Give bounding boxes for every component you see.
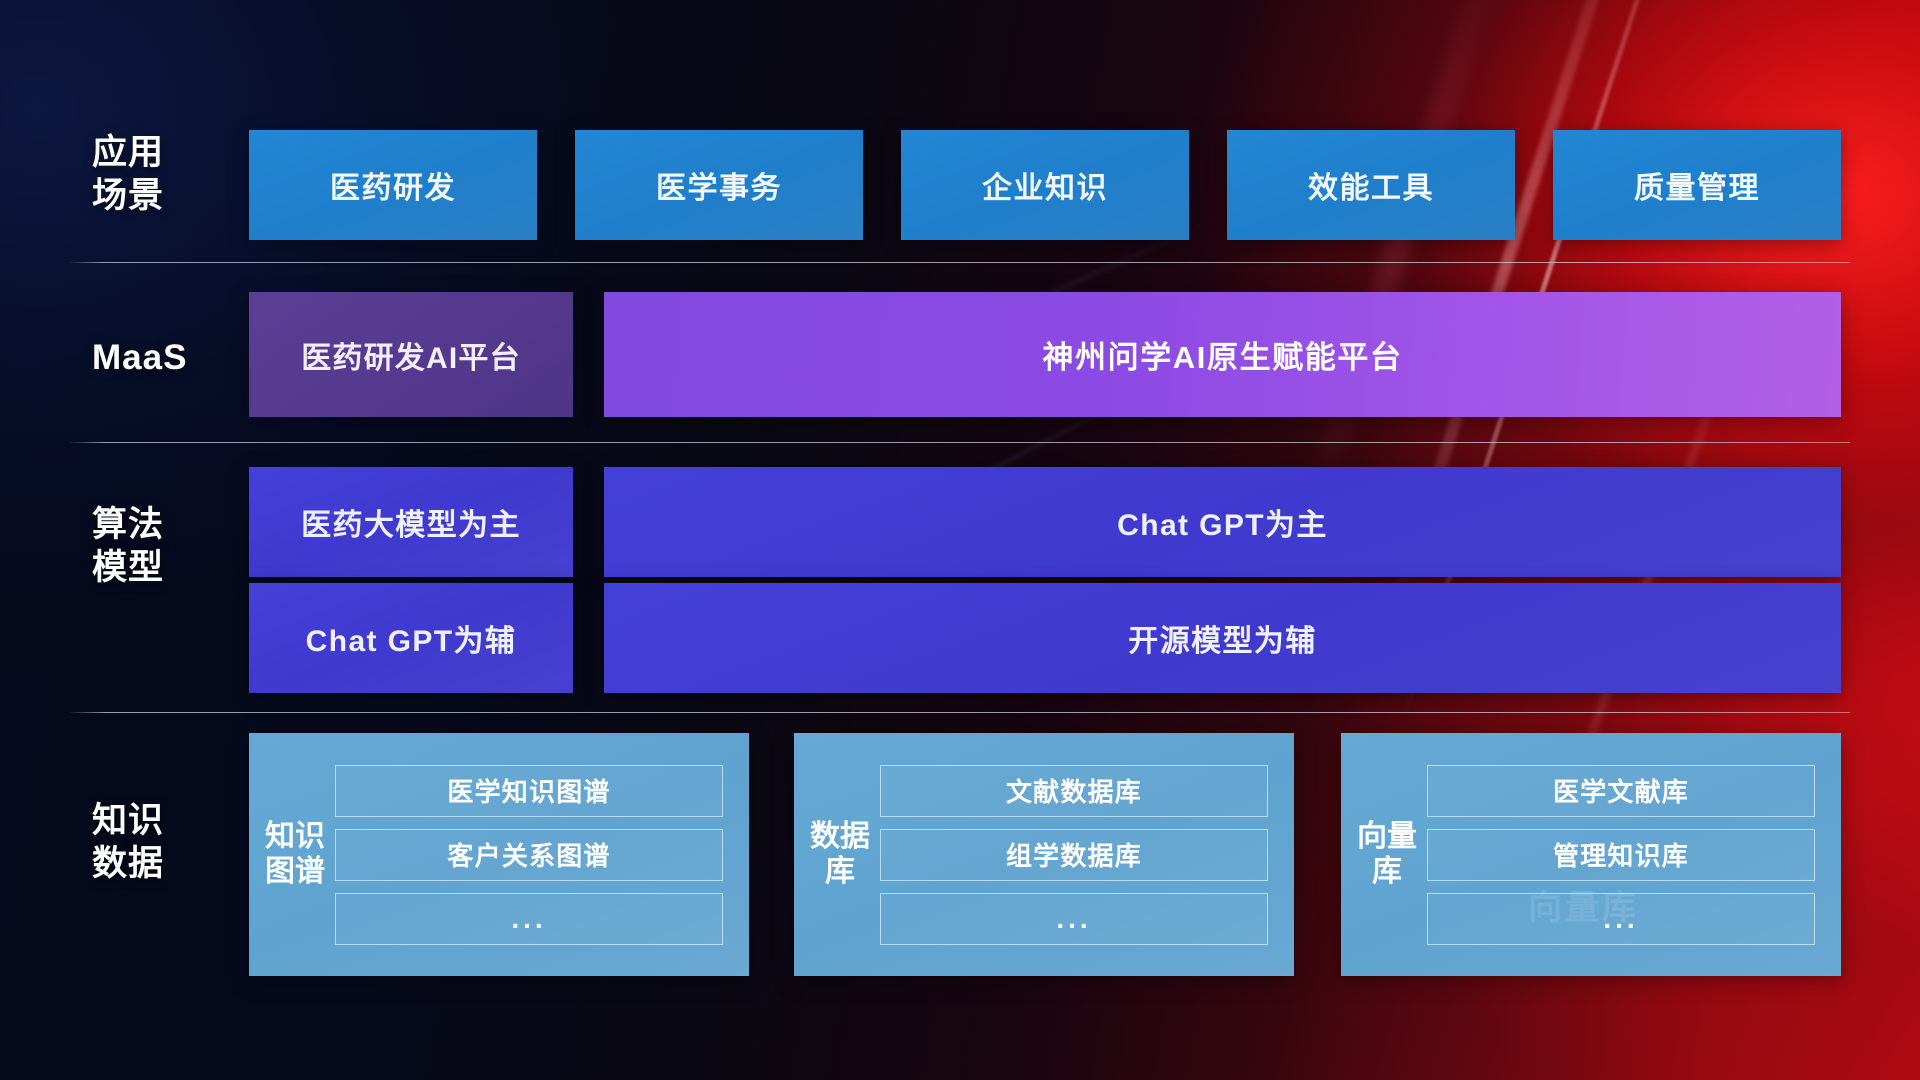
algo-box-medicine-llm-primary[interactable]: 医药大模型为主: [249, 467, 573, 577]
algo-box-label: Chat GPT为主: [1117, 500, 1328, 544]
layer-label-maas: MaaS: [92, 337, 214, 380]
knowledge-group-title: 数据库: [794, 820, 872, 890]
knowledge-item[interactable]: 文献数据库: [880, 765, 1268, 817]
knowledge-item[interactable]: 客户关系图谱: [335, 829, 723, 881]
algo-box-label: 开源模型为辅: [1128, 616, 1316, 660]
app-box-efficiency-tools[interactable]: 效能工具: [1227, 130, 1515, 240]
knowledge-group-items: 医学文献库 管理知识库 ...: [1419, 743, 1841, 967]
knowledge-group-knowledge-graph[interactable]: 知识图谱 医学知识图谱 客户关系图谱 ...: [249, 733, 749, 976]
layer-label-algorithm: 算法 模型: [92, 504, 214, 589]
algo-box-chatgpt-secondary[interactable]: Chat GPT为辅: [249, 583, 573, 693]
knowledge-item-more[interactable]: ...: [880, 893, 1268, 945]
app-box-medicine-rnd[interactable]: 医药研发: [249, 130, 537, 240]
layer-label-application: 应用 场景: [92, 132, 214, 217]
algo-box-label: 医药大模型为主: [301, 500, 521, 544]
app-box-label: 效能工具: [1308, 163, 1434, 207]
knowledge-group-title: 知识图谱: [249, 820, 327, 890]
knowledge-item[interactable]: 医学知识图谱: [335, 765, 723, 817]
app-box-label: 医学事务: [656, 163, 782, 207]
knowledge-item-more[interactable]: ...: [335, 893, 723, 945]
algo-box-chatgpt-primary[interactable]: Chat GPT为主: [604, 467, 1841, 577]
knowledge-group-items: 医学知识图谱 客户关系图谱 ...: [327, 743, 749, 967]
app-box-quality-management[interactable]: 质量管理: [1553, 130, 1841, 240]
divider-algorithm-knowledge: [70, 712, 1850, 713]
maas-box-shenzhou-platform[interactable]: 神州问学AI原生赋能平台: [604, 292, 1841, 417]
divider-maas-algorithm: [70, 442, 1850, 443]
knowledge-item[interactable]: 管理知识库: [1427, 829, 1815, 881]
knowledge-item[interactable]: 医学文献库: [1427, 765, 1815, 817]
app-box-label: 质量管理: [1634, 163, 1760, 207]
algo-box-label: Chat GPT为辅: [306, 616, 517, 660]
app-box-enterprise-knowledge[interactable]: 企业知识: [901, 130, 1189, 240]
maas-box-medicine-ai-platform[interactable]: 医药研发AI平台: [249, 292, 573, 417]
diagram-canvas: 应用 场景 医药研发 医学事务 企业知识 效能工具 质量管理 MaaS 医药研发…: [0, 0, 1920, 1080]
knowledge-group-database[interactable]: 数据库 文献数据库 组学数据库 ...: [794, 733, 1294, 976]
maas-box-label: 神州问学AI原生赋能平台: [1042, 332, 1402, 377]
app-box-label: 企业知识: [982, 163, 1108, 207]
divider-application-maas: [70, 262, 1850, 263]
app-box-label: 医药研发: [330, 163, 456, 207]
knowledge-item[interactable]: 组学数据库: [880, 829, 1268, 881]
layer-label-knowledge: 知识 数据: [92, 800, 214, 885]
app-box-medical-affairs[interactable]: 医学事务: [575, 130, 863, 240]
knowledge-group-items: 文献数据库 组学数据库 ...: [872, 743, 1294, 967]
maas-box-label: 医药研发AI平台: [301, 333, 521, 377]
algo-box-opensource-secondary[interactable]: 开源模型为辅: [604, 583, 1841, 693]
knowledge-item-more[interactable]: ...: [1427, 893, 1815, 945]
light-streak-decoration: [1298, 0, 1514, 518]
knowledge-group-title: 向量库: [1341, 820, 1419, 890]
knowledge-group-vector-store[interactable]: 向量库 医学文献库 管理知识库 ...: [1341, 733, 1841, 976]
